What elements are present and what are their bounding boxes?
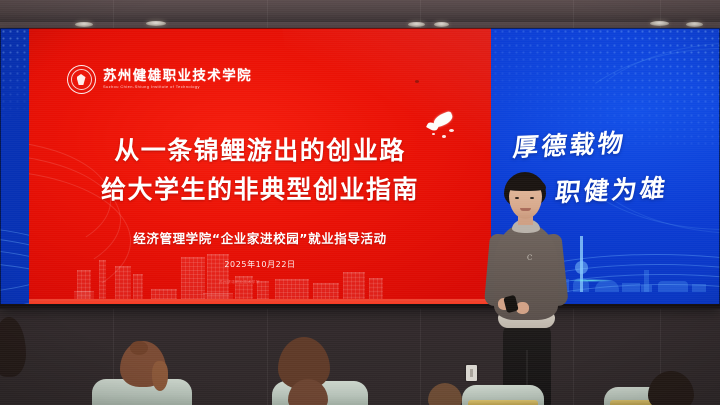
presentation-subtitle: 经济管理学院“企业家进校园”就业指导活动 — [29, 228, 491, 247]
university-name-cn: 苏州健雄职业技术学院 — [103, 69, 252, 83]
ceiling-light — [146, 21, 166, 26]
red-banner-panel: 苏州健雄职业技术学院 Suzhou Chien-Shiung Institute… — [29, 28, 491, 306]
ceiling-light — [686, 22, 703, 27]
presenter-shirt-logo: C — [527, 254, 534, 262]
skyline-caption: 苏州健雄职业技术学院 — [219, 280, 260, 285]
red-city-skyline: 苏州健雄职业技术学院 — [29, 247, 491, 299]
screen-underframe — [0, 304, 720, 309]
koi-splash-dot — [415, 80, 419, 83]
presenter-eye-left — [515, 197, 519, 199]
title-line-1: 从一条锦鲤游出的创业路 — [29, 132, 491, 171]
presenter-eye-right — [530, 197, 534, 199]
title-line-2: 给大学生的非典型创业指南 — [29, 171, 491, 210]
audience-hair-bun — [130, 341, 148, 355]
presentation-title: 从一条锦鲤游出的创业路 给大学生的非典型创业指南 — [29, 132, 491, 210]
lecture-hall-photo: 苏州健雄职业技术学院 Suzhou Chien-Shiung Institute… — [0, 0, 720, 405]
calligraphy-line-1: 厚德载物 — [511, 120, 708, 164]
university-name-en: Suzhou Chien-Shiung Institute of Technol… — [103, 85, 252, 89]
audience-chair-trim — [468, 400, 538, 405]
ceiling-band — [0, 0, 720, 22]
ceiling-light — [408, 22, 425, 27]
ceiling-light — [650, 21, 669, 26]
presenter-mouth — [520, 208, 531, 211]
university-seal-icon — [67, 65, 96, 94]
ceiling-light — [434, 22, 449, 27]
university-logo: 苏州健雄职业技术学院 Suzhou Chien-Shiung Institute… — [67, 65, 252, 94]
audience-ponytail — [152, 361, 168, 391]
led-presentation-screen: 苏州健雄职业技术学院 Suzhou Chien-Shiung Institute… — [0, 28, 720, 306]
presenter-figure: C — [470, 172, 582, 405]
ceiling-light — [75, 22, 93, 27]
